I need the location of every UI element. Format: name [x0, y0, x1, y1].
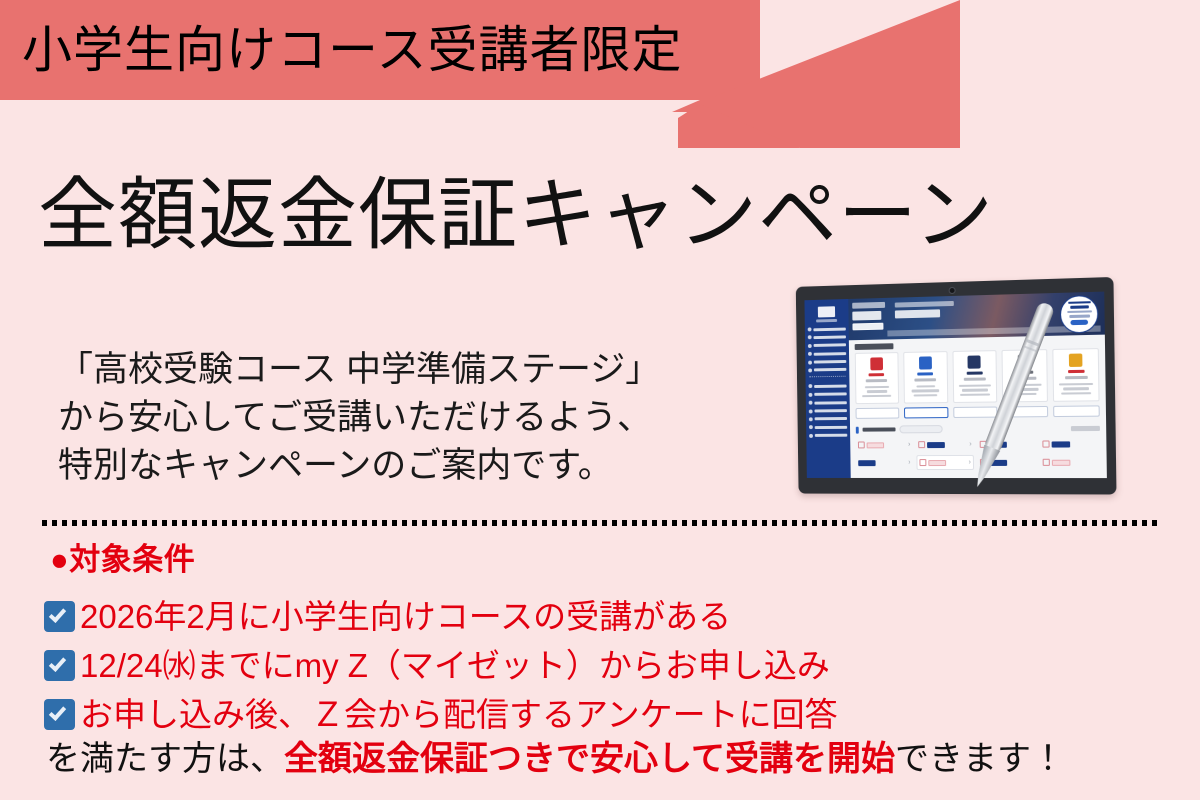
subject-card — [1053, 348, 1100, 402]
sidebar-item — [805, 360, 849, 365]
list-tag — [858, 460, 875, 466]
nav-bullet-icon — [808, 384, 812, 388]
list-item — [1041, 455, 1101, 470]
nav-bullet-icon — [808, 344, 812, 348]
list-item — [1040, 436, 1100, 452]
nav-label — [813, 327, 845, 331]
subject-meta — [1065, 376, 1088, 379]
subject-desc-line — [916, 385, 935, 388]
nav-bullet-icon — [809, 434, 813, 438]
subject-card — [952, 350, 998, 403]
subject-desc-line — [962, 389, 989, 392]
subject-icon — [1069, 353, 1083, 367]
badge-line — [1069, 315, 1090, 318]
filter-marker-icon — [856, 426, 859, 433]
filter-chip — [899, 425, 942, 433]
dotted-divider — [42, 520, 1160, 526]
footer-prefix: を満たす方は、 — [46, 740, 284, 778]
subject-name — [917, 372, 933, 376]
list-item: › — [916, 437, 974, 452]
chevron-right-icon: › — [908, 441, 910, 448]
condition-text: お申し込み後、Ｚ会から配信するアンケートに回答 — [80, 698, 838, 731]
subject-desc-line — [914, 394, 937, 397]
sidebar-item — [805, 351, 849, 356]
sidebar-item — [806, 400, 850, 404]
subject-desc-line — [1061, 392, 1091, 395]
sidebar-divider — [809, 376, 845, 379]
badge-line — [1067, 310, 1092, 313]
hero-study-time — [852, 311, 881, 321]
subject-desc-line — [862, 395, 891, 398]
campaign-banner: 小学生向けコース受講者限定 全額返金保証キャンペーン 「高校受験コース 中学準備… — [0, 0, 1200, 800]
sidebar-item — [805, 327, 849, 332]
lead-line-2: から安心してご受講いただけるよう、 — [58, 394, 738, 442]
nav-label — [814, 384, 846, 387]
tablet-illustration: › › — [786, 282, 1146, 507]
nav-bullet-icon — [809, 393, 813, 397]
condition-text: 12/24㈬までにmy Z（マイゼット）からお申し込み — [80, 649, 830, 682]
subject-desc-line — [960, 393, 989, 396]
subject-name — [1068, 370, 1085, 374]
nav-bullet-icon — [809, 425, 813, 429]
lead-paragraph: 「高校受験コース 中学準備ステージ」 から安心してご受講いただけるよう、 特別な… — [58, 346, 738, 490]
sidebar-item — [806, 384, 850, 389]
subject-icon — [919, 356, 932, 369]
list-tag — [927, 442, 945, 448]
subject-list-button — [1053, 406, 1099, 418]
app-hero-banner — [848, 292, 1105, 341]
app-main-content: › › — [848, 292, 1107, 478]
nav-label — [813, 335, 845, 339]
nav-bullet-icon — [809, 401, 813, 405]
subject-meta — [866, 379, 887, 382]
sidebar-item — [806, 417, 850, 421]
subject-desc-line — [867, 390, 888, 393]
nav-bullet-icon — [809, 417, 813, 421]
status-square-icon — [1043, 459, 1050, 466]
sidebar-item — [806, 425, 850, 429]
subject-icon — [870, 357, 883, 370]
subject-meta — [964, 378, 986, 381]
checked-checkbox-icon — [44, 699, 75, 730]
badge-line — [1070, 306, 1089, 309]
list-item: › — [856, 455, 913, 470]
nav-label — [814, 368, 846, 372]
chevron-right-icon: › — [969, 441, 971, 448]
subject-name — [967, 371, 983, 375]
page-title: 全額返金保証キャンペーン — [38, 166, 1168, 266]
status-square-icon — [918, 441, 925, 448]
nav-label — [815, 426, 847, 429]
badge-button — [1070, 319, 1088, 325]
footer-suffix: できます！ — [895, 740, 1065, 778]
subject-list-button — [953, 407, 998, 418]
nav-label — [814, 352, 846, 356]
subject-name — [869, 373, 885, 377]
condition-text: 2026年2月に小学生向けコースの受講がある — [80, 600, 731, 633]
nav-label — [815, 434, 847, 437]
status-square-icon — [858, 442, 865, 449]
app-logo-subtitle — [816, 319, 837, 322]
list-tag — [1052, 459, 1071, 465]
filter-sort-control — [1071, 426, 1100, 431]
sidebar-item — [806, 409, 850, 413]
subject-meta — [915, 379, 937, 382]
nav-label — [814, 401, 846, 404]
ribbon-label: 小学生向けコース受講者限定 — [22, 11, 742, 89]
filter-bar — [850, 417, 1106, 438]
hero-catchup-label — [895, 309, 940, 318]
checked-checkbox-icon — [44, 601, 75, 632]
hero-period-select — [852, 323, 883, 331]
subject-desc-line — [959, 384, 991, 387]
hero-subtitle — [895, 301, 954, 308]
footer-highlight: 全額返金保証つきで安心して受講を開始 — [284, 740, 895, 778]
tablet-screen: › › — [804, 292, 1106, 478]
subject-card — [903, 351, 948, 404]
subject-icon — [968, 355, 981, 368]
sidebar-item — [806, 392, 850, 397]
camera-icon — [948, 287, 955, 294]
header-ribbon: 小学生向けコース受講者限定 — [0, 0, 960, 156]
nav-label — [814, 409, 846, 412]
badge-line — [1068, 301, 1091, 304]
list-item: › — [916, 455, 974, 470]
subject-desc-line — [1064, 387, 1089, 390]
subject-button-row — [850, 401, 1106, 419]
app-logo-icon — [818, 306, 835, 317]
sidebar-item — [805, 368, 849, 373]
conditions-heading: ●対象条件 — [50, 542, 195, 578]
chevron-right-icon: › — [908, 459, 910, 466]
hero-tag — [852, 302, 885, 309]
subject-card-row — [849, 348, 1106, 404]
nav-label — [814, 360, 846, 364]
app-sidebar — [804, 299, 850, 478]
nav-bullet-icon — [808, 327, 812, 331]
subject-desc-line — [1059, 383, 1093, 386]
lead-line-3: 特別なキャンペーンのご案内です。 — [58, 442, 738, 490]
conditions-list: 2026年2月に小学生向けコースの受講がある 12/24㈬までにmy Z（マイゼ… — [44, 592, 1174, 739]
filter-title — [863, 428, 896, 432]
conditions-footer: を満たす方は、全額返金保証つきで安心して受講を開始できます！ — [46, 742, 1065, 776]
list-tag — [867, 442, 885, 448]
condition-item: 2026年2月に小学生向けコースの受講がある — [44, 592, 1174, 641]
subject-desc-line — [864, 386, 889, 389]
nav-label — [815, 417, 847, 420]
sidebar-item — [805, 343, 849, 348]
nav-bullet-icon — [808, 360, 812, 364]
nav-bullet-icon — [808, 352, 812, 356]
subject-section-heading — [855, 343, 894, 350]
lead-line-1: 「高校受験コース 中学準備ステージ」 — [58, 346, 738, 394]
chevron-right-icon: › — [969, 459, 971, 466]
status-square-icon — [1042, 441, 1049, 448]
subject-desc-line — [912, 390, 940, 393]
list-tag — [928, 460, 946, 466]
list-tag — [1052, 441, 1071, 447]
subject-card — [855, 352, 899, 404]
subject-list-button — [856, 408, 900, 419]
subject-list-button — [904, 407, 948, 418]
nav-bullet-icon — [808, 336, 812, 340]
checked-checkbox-icon — [44, 650, 75, 681]
sidebar-item — [805, 335, 849, 340]
nav-bullet-icon — [809, 409, 813, 413]
list-item: › — [856, 437, 913, 452]
nav-label — [814, 344, 846, 348]
condition-item: お申し込み後、Ｚ会から配信するアンケートに回答 — [44, 690, 1174, 739]
nav-label — [814, 393, 846, 396]
tablet-device: › › — [796, 277, 1117, 495]
nav-bullet-icon — [808, 368, 812, 372]
status-square-icon — [919, 459, 926, 466]
condition-item: 12/24㈬までにmy Z（マイゼット）からお申し込み — [44, 641, 1174, 690]
sidebar-item — [806, 433, 850, 437]
